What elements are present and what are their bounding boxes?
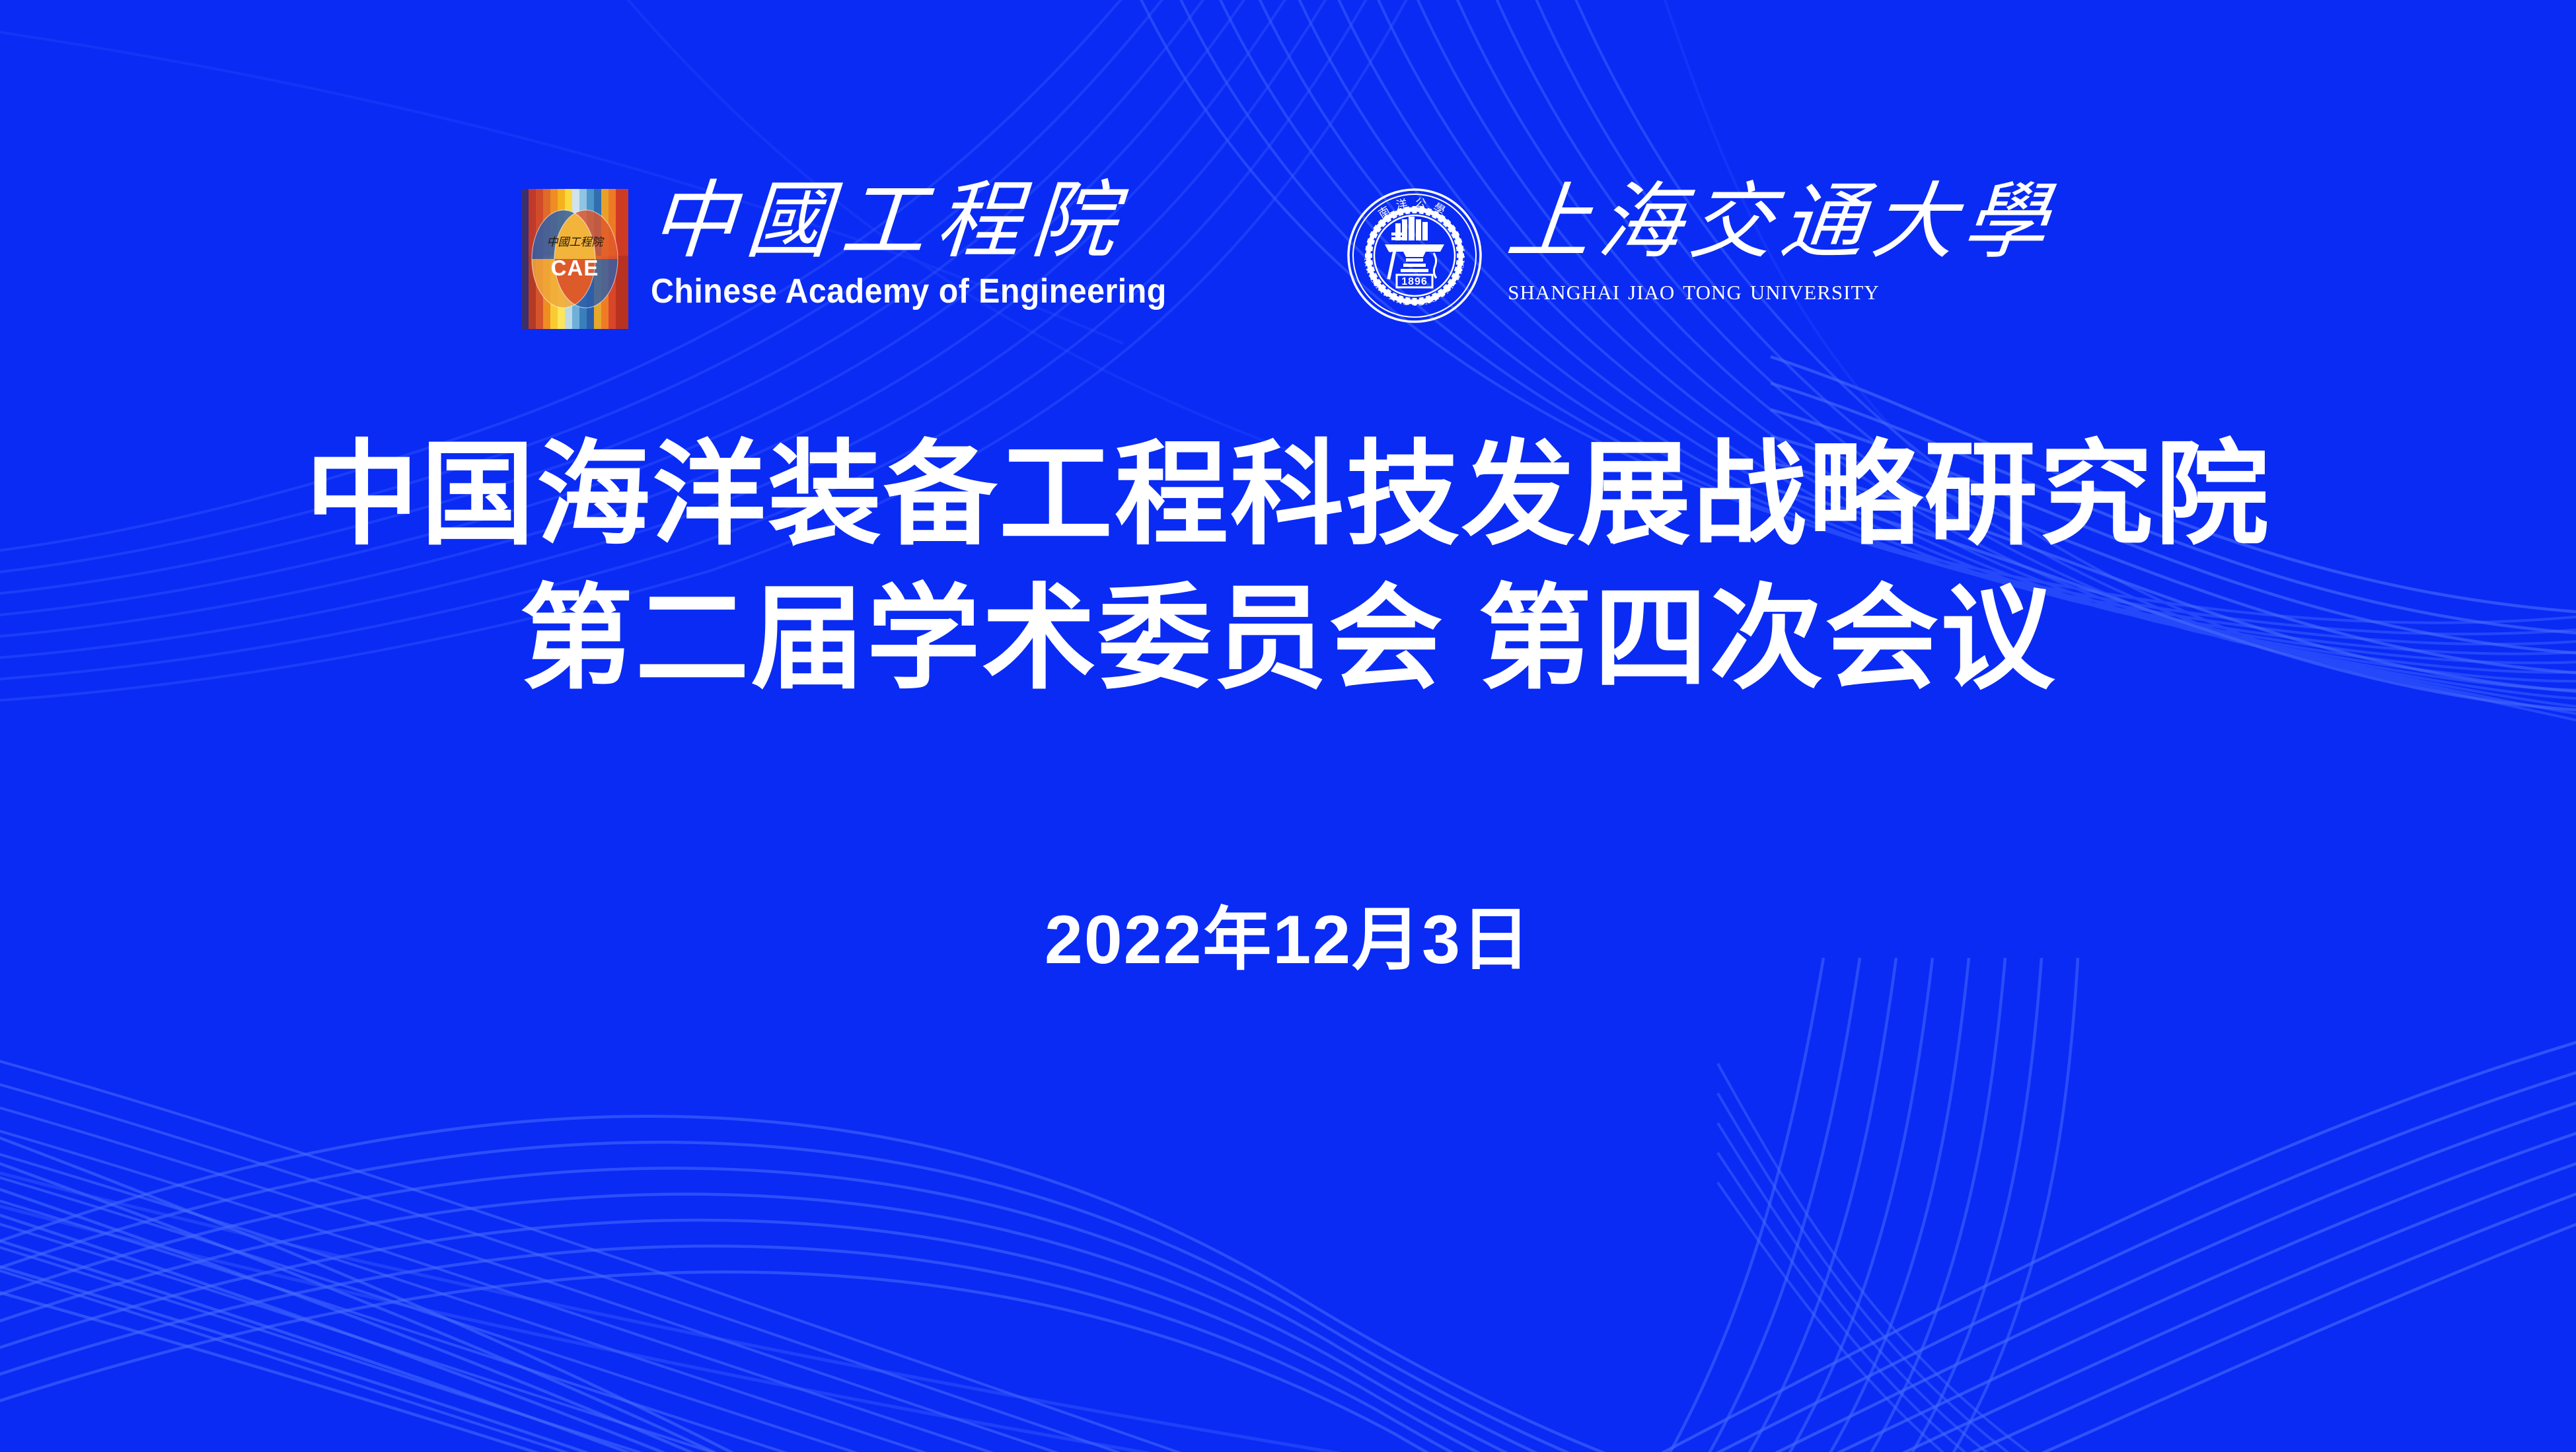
sjtu-text-block: 上海交通大學 Shanghai Jiao Tong University (1508, 165, 2055, 307)
event-date: 2022年12月3日 (0, 883, 2576, 983)
event-title: 中国海洋装备工程科技发展战略研究院 第二届学术委员会 第四次会议 (0, 423, 2576, 711)
svg-text:1896: 1896 (1401, 276, 1428, 287)
logo-band: 中國工程院 CAE 中國工程院 Chinese Academy of Engin… (0, 165, 2576, 317)
svg-text:CAE: CAE (550, 256, 599, 280)
event-title-line-2: 第二届学术委员会 第四次会议 (0, 567, 2576, 711)
event-title-line-1: 中国海洋装备工程科技发展战略研究院 (0, 423, 2576, 567)
cae-logo-lockup: 中國工程院 CAE 中國工程院 Chinese Academy of Engin… (521, 165, 1205, 329)
sjtu-logo-lockup: SHANGHAI JIAO TONG UNIVERSITY 南洋公學 (1344, 165, 2055, 326)
svg-text:中國工程院: 中國工程院 (546, 236, 605, 249)
sjtu-english-name: Shanghai Jiao Tong University (1508, 273, 2055, 307)
cae-english-name: Chinese Academy of Engineering (651, 272, 1167, 311)
cae-chinese-name: 中國工程院 (647, 178, 1208, 265)
sjtu-seal-icon: SHANGHAI JIAO TONG UNIVERSITY 南洋公學 (1344, 185, 1485, 326)
cae-text-block: 中國工程院 Chinese Academy of Engineering (651, 165, 1205, 311)
cae-emblem-icon: 中國工程院 CAE (521, 189, 628, 329)
conference-backdrop: 中國工程院 CAE 中國工程院 Chinese Academy of Engin… (0, 0, 2576, 1452)
sjtu-chinese-name: 上海交通大學 (1503, 180, 2059, 265)
